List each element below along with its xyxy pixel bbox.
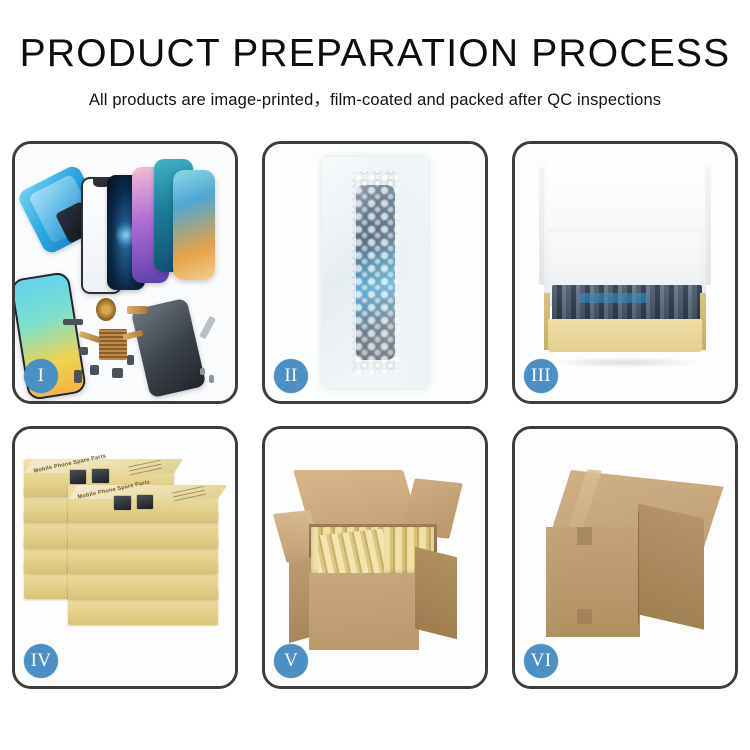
- small-part-icon: [63, 319, 83, 325]
- step-badge-4: IV: [24, 644, 58, 678]
- carton-tab-icon: [577, 609, 592, 624]
- small-part-icon: [90, 365, 99, 375]
- box-product-thumbnail: [113, 495, 131, 511]
- plastic-sheen-overlay: [322, 157, 428, 388]
- carton-front-face: [546, 527, 641, 638]
- box-stack: Mobile Phone Spare Parts Mobile Phone Sp…: [24, 455, 226, 671]
- step-badge-6: VI: [524, 644, 558, 678]
- box-product-thumbnail: [69, 469, 87, 485]
- kraft-box-top-right: Mobile Phone Spare Parts: [68, 485, 218, 522]
- screw-icon: [200, 368, 206, 376]
- packed-products-icon: [552, 285, 702, 321]
- step-badge-5: V: [274, 644, 308, 678]
- process-steps-grid: I II III: [12, 141, 738, 689]
- packed-kraft-boxes-icon: [318, 528, 384, 579]
- carton-tab-icon: [577, 527, 592, 545]
- small-part-icon: [74, 370, 82, 383]
- carton-edge-line: [638, 511, 639, 624]
- plastic-sleeve-icon: [322, 157, 428, 388]
- small-part-icon: [79, 347, 88, 355]
- vibration-motor-icon: [96, 298, 116, 321]
- tweezers-icon: [199, 316, 216, 340]
- step-panel-6[interactable]: VI: [512, 426, 738, 689]
- step-panel-1[interactable]: I: [12, 141, 238, 404]
- page-header: PRODUCT PREPARATION PROCESS All products…: [0, 0, 750, 110]
- flex-cable-icon: [78, 331, 101, 344]
- box-product-thumbnail: [136, 494, 154, 510]
- screw-icon: [209, 375, 215, 383]
- small-part-icon: [112, 368, 123, 378]
- carton-side-face: [638, 504, 704, 630]
- step-panel-5[interactable]: V: [262, 426, 488, 689]
- flex-cable-icon: [127, 306, 147, 314]
- box-product-thumbnail: [91, 468, 109, 484]
- gold-phone-icon: [173, 170, 215, 281]
- box-base-front-icon: [548, 319, 702, 352]
- step-panel-3[interactable]: III: [512, 141, 738, 404]
- small-part-icon: [127, 355, 134, 365]
- carton-side-face: [415, 547, 457, 640]
- carton-front-face: [309, 573, 419, 650]
- box-shadow: [550, 357, 700, 367]
- step-panel-4[interactable]: Mobile Phone Spare Parts Mobile Phone Sp…: [12, 426, 238, 689]
- page-title: PRODUCT PREPARATION PROCESS: [0, 34, 750, 73]
- page-subtitle: All products are image-printed，film-coat…: [0, 86, 750, 110]
- step-badge-3: III: [524, 359, 558, 393]
- step-badge-1: I: [24, 359, 58, 393]
- carton-left-face: [289, 557, 311, 643]
- step-badge-2: II: [274, 359, 308, 393]
- step-panel-2[interactable]: II: [262, 141, 488, 404]
